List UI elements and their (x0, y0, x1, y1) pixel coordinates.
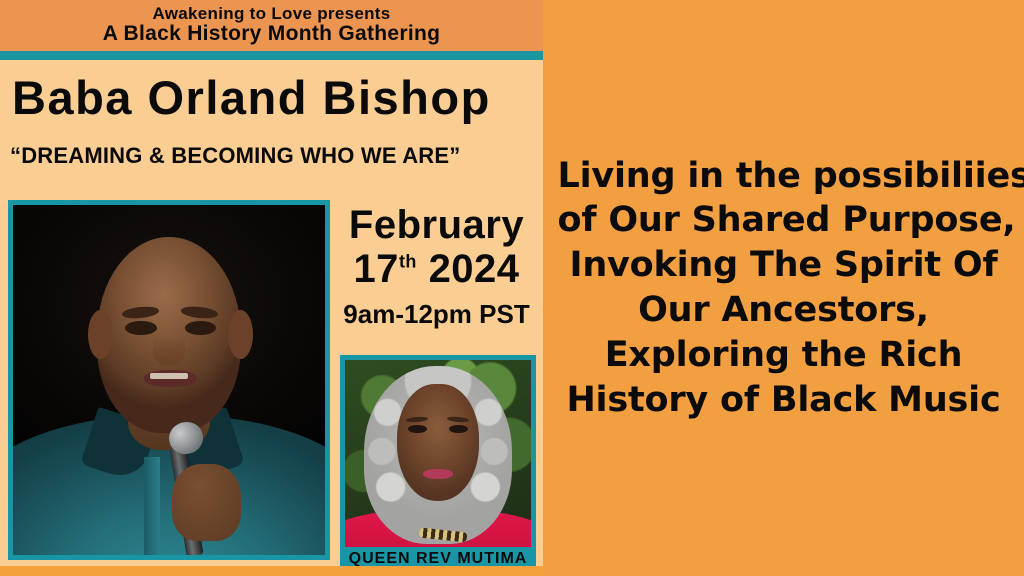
speaker-name-title: Baba Orland Bishop (12, 74, 537, 121)
speaker-hand (172, 464, 241, 541)
description-line-6: History of Black Music (558, 378, 1010, 423)
description-line-3: Invoking The Spirit Of (558, 243, 1010, 288)
guest-second-photo (340, 355, 536, 567)
guest-face (397, 384, 479, 501)
flyer-poster: Awakening to Love presents A Black Histo… (0, 0, 1024, 576)
guest-eye-left (408, 425, 427, 433)
bottom-accent-bar (0, 566, 543, 576)
eye-right (185, 321, 216, 335)
event-day: 17 (353, 247, 399, 291)
ear-left (88, 310, 113, 359)
event-month: February (334, 204, 539, 246)
guest-photo-artwork (345, 360, 531, 562)
event-date-block: February 17th 2024 9am-12pm PST (334, 204, 539, 328)
teeth (150, 373, 187, 379)
shirt-placket (144, 457, 160, 555)
description-line-4: Our Ancestors, (558, 288, 1010, 333)
description-line-1: Living in the possibiliies (558, 154, 1010, 199)
teal-divider-rule (0, 51, 543, 60)
event-kicker-line: A Black History Month Gathering (103, 23, 441, 46)
talk-title-subtitle: “DREAMING & BECOMING WHO WE ARE” (10, 143, 538, 169)
event-day-year: 17th 2024 (334, 248, 539, 290)
event-time: 9am-12pm PST (334, 300, 539, 329)
eye-left (125, 321, 156, 335)
left-column: Awakening to Love presents A Black Histo… (0, 0, 543, 576)
event-description: Living in the possibiliies of Our Shared… (558, 154, 1010, 423)
guest-lips (423, 469, 453, 479)
event-year: 2024 (429, 247, 520, 291)
header-band: Awakening to Love presents A Black Histo… (0, 0, 543, 51)
presenter-line: Awakening to Love presents (153, 5, 391, 23)
speaker-photo-artwork (13, 205, 325, 555)
event-day-suffix: th (399, 252, 417, 272)
description-line-2: of Our Shared Purpose, (558, 198, 1010, 243)
speaker-main-photo (8, 200, 330, 560)
description-line-5: Exploring the Rich (558, 333, 1010, 378)
guest-eye-right (449, 425, 468, 433)
right-panel: Living in the possibiliies of Our Shared… (543, 0, 1024, 576)
nose (153, 335, 184, 367)
